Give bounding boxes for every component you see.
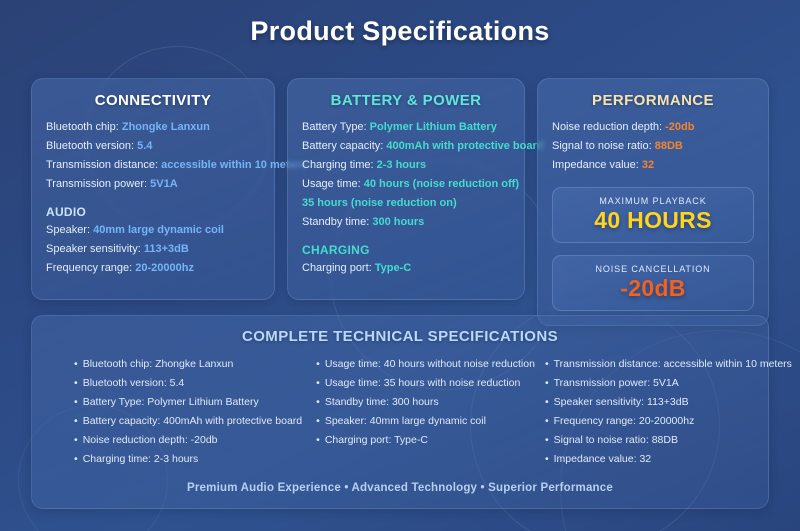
card-performance: PERFORMANCE Noise reduction depth: -20db…: [537, 78, 769, 326]
spec-row-usage-time: Usage time: 40 hours (noise reduction of…: [302, 175, 510, 194]
highlight-value: -20dB: [559, 275, 747, 301]
subsection-charging-heading: CHARGING: [302, 243, 510, 257]
card-connectivity: CONNECTIVITY Bluetooth chip: Zhongke Lan…: [31, 78, 275, 300]
card-performance-title: PERFORMANCE: [552, 92, 754, 109]
spec-label: Transmission distance:: [46, 159, 158, 171]
spec-row-transmission-power: Transmission power: 5V1A: [46, 175, 260, 194]
spec-row-speaker: Speaker: 40mm large dynamic coil: [46, 221, 260, 240]
spec-row-charging-port: Charging port: Type-C: [302, 259, 510, 278]
spec-row-speaker-sensitivity: Speaker sensitivity: 113+3dB: [46, 240, 260, 259]
spec-label: Usage time:: [302, 178, 361, 190]
spec-label: Frequency range:: [46, 262, 132, 274]
spec-row-standby-time: Standby time: 300 hours: [302, 213, 510, 232]
spec-value: 5V1A: [150, 178, 178, 190]
list-item: Speaker sensitivity: 113+3dB: [545, 393, 792, 412]
spec-value: 300 hours: [372, 216, 424, 228]
highlight-noise-cancellation: NOISE CANCELLATION -20dB: [552, 255, 754, 311]
list-item: Transmission distance: accessible within…: [545, 355, 792, 374]
spec-value: Zhongke Lanxun: [122, 121, 210, 133]
spec-label: Battery capacity:: [302, 140, 383, 152]
list-item: Battery capacity: 400mAh with protective…: [74, 412, 302, 431]
list-item: Standby time: 300 hours: [316, 393, 535, 412]
full-spec-column-1: Bluetooth chip: Zhongke Lanxun Bluetooth…: [48, 355, 302, 469]
list-item: Frequency range: 20-20000hz: [545, 412, 792, 431]
highlight-label: MAXIMUM PLAYBACK: [559, 196, 747, 206]
spec-label: Bluetooth chip:: [46, 121, 119, 133]
list-item: Charging time: 2-3 hours: [74, 450, 302, 469]
spec-value: 113+3dB: [144, 243, 189, 255]
spec-label: Speaker sensitivity:: [46, 243, 141, 255]
spec-value: 32: [642, 159, 654, 171]
spec-value: 20-20000hz: [135, 262, 194, 274]
spec-row-transmission-distance: Transmission distance: accessible within…: [46, 156, 260, 175]
list-item: Usage time: 35 hours with noise reductio…: [316, 374, 535, 393]
spec-row-noise-reduction-depth: Noise reduction depth: -20db: [552, 118, 754, 137]
spec-value: 2-3 hours: [377, 159, 427, 171]
spec-row-bluetooth-version: Bluetooth version: 5.4: [46, 137, 260, 156]
list-item: Battery Type: Polymer Lithium Battery: [74, 393, 302, 412]
subsection-audio-heading: AUDIO: [46, 205, 260, 219]
spec-value: 5.4: [137, 140, 152, 152]
spec-value: 40mm large dynamic coil: [93, 224, 224, 236]
spec-label: Noise reduction depth:: [552, 121, 662, 133]
spec-row-frequency-range: Frequency range: 20-20000hz: [46, 259, 260, 278]
spec-label: Speaker:: [46, 224, 90, 236]
list-item: Transmission power: 5V1A: [545, 374, 792, 393]
spec-value: 35 hours (noise reduction on): [302, 197, 457, 209]
spec-label: Impedance value:: [552, 159, 639, 171]
full-spec-column-3: Transmission distance: accessible within…: [541, 355, 792, 469]
list-item: Usage time: 40 hours without noise reduc…: [316, 355, 535, 374]
full-spec-column-2: Usage time: 40 hours without noise reduc…: [308, 355, 535, 469]
highlight-value: 40 HOURS: [559, 207, 747, 233]
spec-label: Transmission power:: [46, 178, 147, 190]
list-item: Impedance value: 32: [545, 450, 792, 469]
spec-label: Battery Type:: [302, 121, 367, 133]
spec-row-signal-to-noise-ratio: Signal to noise ratio: 88DB: [552, 137, 754, 156]
spec-label: Charging port:: [302, 262, 372, 274]
spec-value: 400mAh with protective board: [386, 140, 543, 152]
list-item: Charging port: Type-C: [316, 431, 535, 450]
card-battery-power: BATTERY & POWER Battery Type: Polymer Li…: [287, 78, 525, 300]
card-battery-title: BATTERY & POWER: [302, 92, 510, 109]
spec-value: accessible within 10 meters: [161, 159, 306, 171]
spec-row-battery-capacity: Battery capacity: 400mAh with protective…: [302, 137, 510, 156]
highlight-label: NOISE CANCELLATION: [559, 264, 747, 274]
spec-row-bluetooth-chip: Bluetooth chip: Zhongke Lanxun: [46, 118, 260, 137]
spec-label: Signal to noise ratio:: [552, 140, 652, 152]
spec-cards-row: CONNECTIVITY Bluetooth chip: Zhongke Lan…: [31, 78, 769, 326]
spec-row-usage-time-alt: 35 hours (noise reduction on): [302, 194, 510, 213]
spec-row-battery-type: Battery Type: Polymer Lithium Battery: [302, 118, 510, 137]
spec-row-impedance-value: Impedance value: 32: [552, 156, 754, 175]
spec-value: Polymer Lithium Battery: [370, 121, 497, 133]
spec-label: Standby time:: [302, 216, 369, 228]
full-spec-title: COMPLETE TECHNICAL SPECIFICATIONS: [48, 328, 752, 345]
card-connectivity-title: CONNECTIVITY: [46, 92, 260, 109]
spec-label: Charging time:: [302, 159, 374, 171]
page-title: Product Specifications: [0, 0, 800, 47]
complete-technical-specifications-panel: COMPLETE TECHNICAL SPECIFICATIONS Blueto…: [31, 315, 769, 509]
footer-tagline: Premium Audio Experience • Advanced Tech…: [32, 482, 768, 494]
full-spec-columns: Bluetooth chip: Zhongke Lanxun Bluetooth…: [48, 355, 752, 469]
list-item: Bluetooth chip: Zhongke Lanxun: [74, 355, 302, 374]
spec-value: Type-C: [375, 262, 411, 274]
list-item: Signal to noise ratio: 88DB: [545, 431, 792, 450]
highlight-max-playback: MAXIMUM PLAYBACK 40 HOURS: [552, 187, 754, 243]
spec-value: -20db: [665, 121, 694, 133]
list-item: Speaker: 40mm large dynamic coil: [316, 412, 535, 431]
spec-label: Bluetooth version:: [46, 140, 134, 152]
spec-row-charging-time: Charging time: 2-3 hours: [302, 156, 510, 175]
list-item: Bluetooth version: 5.4: [74, 374, 302, 393]
spec-value: 88DB: [655, 140, 683, 152]
list-item: Noise reduction depth: -20db: [74, 431, 302, 450]
spec-value: 40 hours (noise reduction off): [364, 178, 519, 190]
